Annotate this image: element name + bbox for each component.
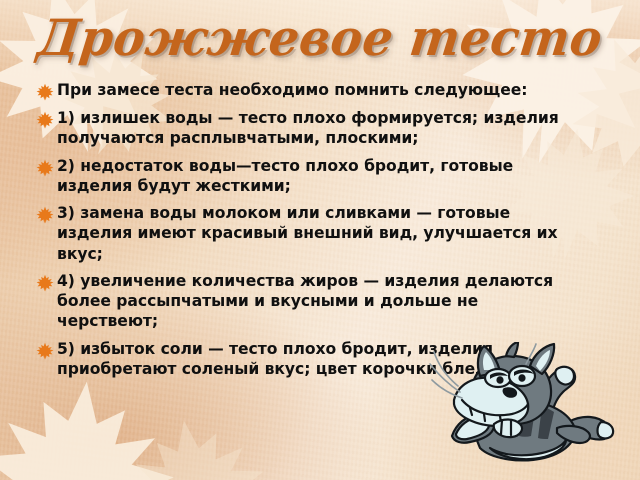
bullet-list: При замесе теста необходимо помнить след… [36, 80, 584, 386]
maple-leaf-bullet-icon [36, 159, 54, 177]
presentation-slide: Дрожжевое тесто При замесе теста необход… [0, 0, 640, 480]
list-item: 1) излишек воды — тесто плохо формируетс… [36, 108, 584, 149]
slide-title-area: Дрожжевое тесто [0, 2, 640, 74]
list-item-text: 3) замена воды молоком или сливками — го… [57, 203, 584, 264]
list-item: При замесе теста необходимо помнить след… [36, 80, 584, 101]
slide-title: Дрожжевое тесто [35, 13, 605, 63]
maple-leaf-bullet-icon [36, 111, 54, 129]
list-item: 3) замена воды молоком или сливками — го… [36, 203, 584, 264]
list-item-text: 4) увеличение количества жиров — изделия… [57, 271, 584, 332]
list-item: 2) недостаток воды—тесто плохо бродит, г… [36, 156, 584, 197]
list-item-text: При замесе теста необходимо помнить след… [57, 80, 584, 100]
list-item: 4) увеличение количества жиров — изделия… [36, 271, 584, 332]
maple-leaf-bullet-icon [36, 342, 54, 360]
maple-leaf-bullet-icon [36, 83, 54, 101]
list-item-text: 5) избыток соли — тесто плохо бродит, из… [57, 339, 584, 380]
maple-leaf-bullet-icon [36, 274, 54, 292]
list-item: 5) избыток соли — тесто плохо бродит, из… [36, 339, 584, 380]
list-item-text: 2) недостаток воды—тесто плохо бродит, г… [57, 156, 584, 197]
maple-leaf-bullet-icon [36, 206, 54, 224]
list-item-text: 1) излишек воды — тесто плохо формируетс… [57, 108, 584, 149]
